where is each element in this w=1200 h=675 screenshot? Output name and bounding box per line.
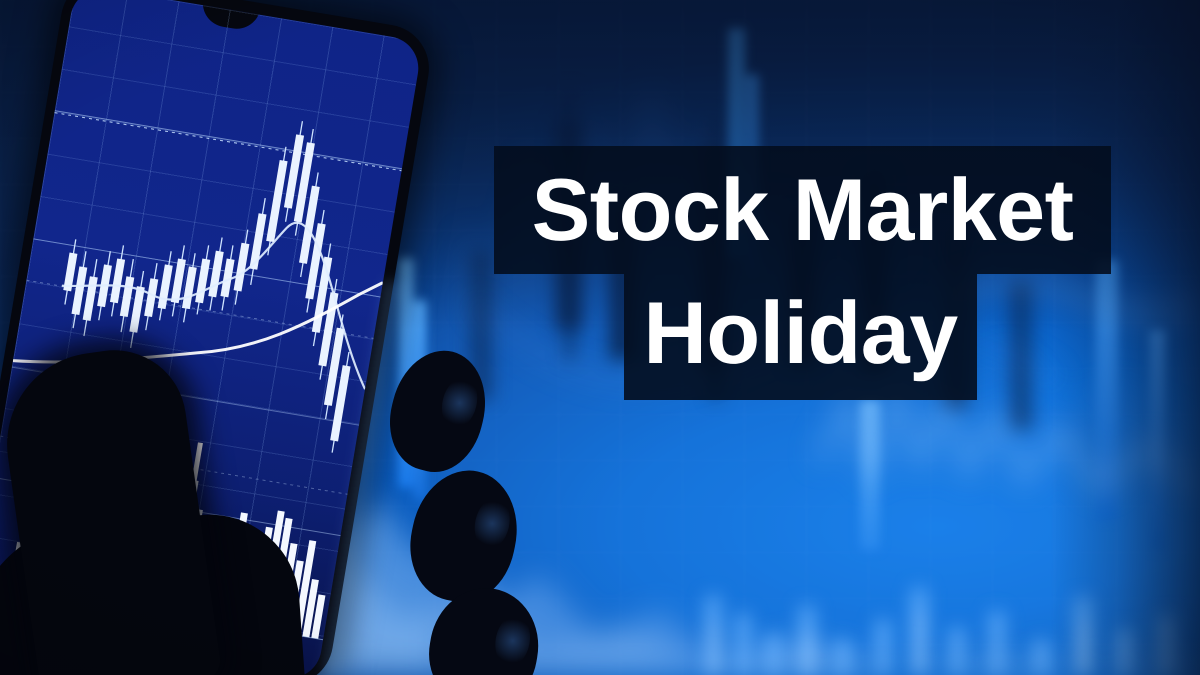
headline-line-1: Stock Market [494, 146, 1111, 274]
finger-highlight [470, 495, 514, 553]
finger-highlight [491, 612, 534, 669]
headline-line-1-text: Stock Market [532, 159, 1074, 261]
finger-highlight [437, 374, 483, 433]
background-right-shade [1050, 0, 1200, 675]
headline-line-2-text: Holiday [643, 282, 957, 384]
thumbnail-canvas: 03:00 04:00 05:00 Stock Market Holiday [0, 0, 1200, 675]
headline-line-2: Holiday [624, 274, 977, 400]
